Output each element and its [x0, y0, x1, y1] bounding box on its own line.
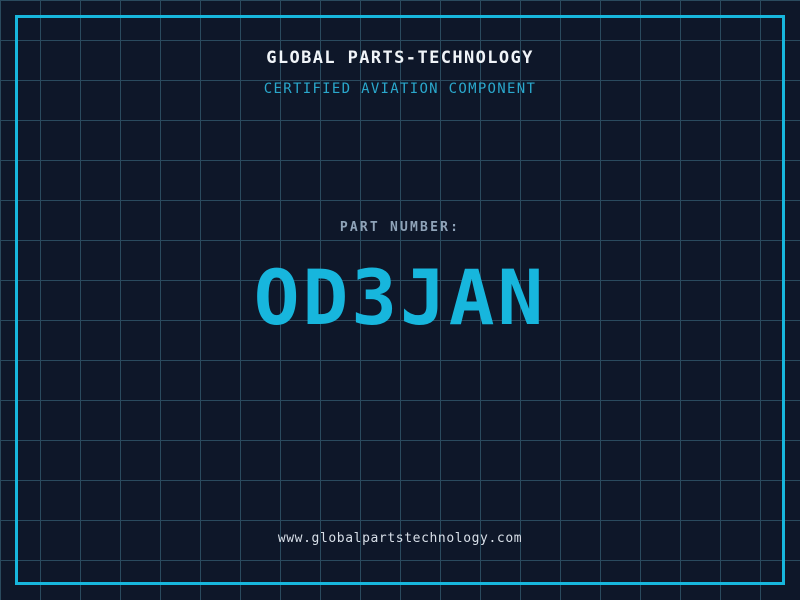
label-content: GLOBAL PARTS-TECHNOLOGY CERTIFIED AVIATI… — [0, 0, 800, 600]
part-number-label: PART NUMBER: — [0, 219, 800, 237]
part-number-value: OD3JAN — [0, 258, 800, 338]
certification-subtitle: CERTIFIED AVIATION COMPONENT — [0, 80, 800, 98]
website-url: www.globalpartstechnology.com — [0, 530, 800, 548]
company-title: GLOBAL PARTS-TECHNOLOGY — [0, 47, 800, 69]
part-label-canvas: GLOBAL PARTS-TECHNOLOGY CERTIFIED AVIATI… — [0, 0, 800, 600]
